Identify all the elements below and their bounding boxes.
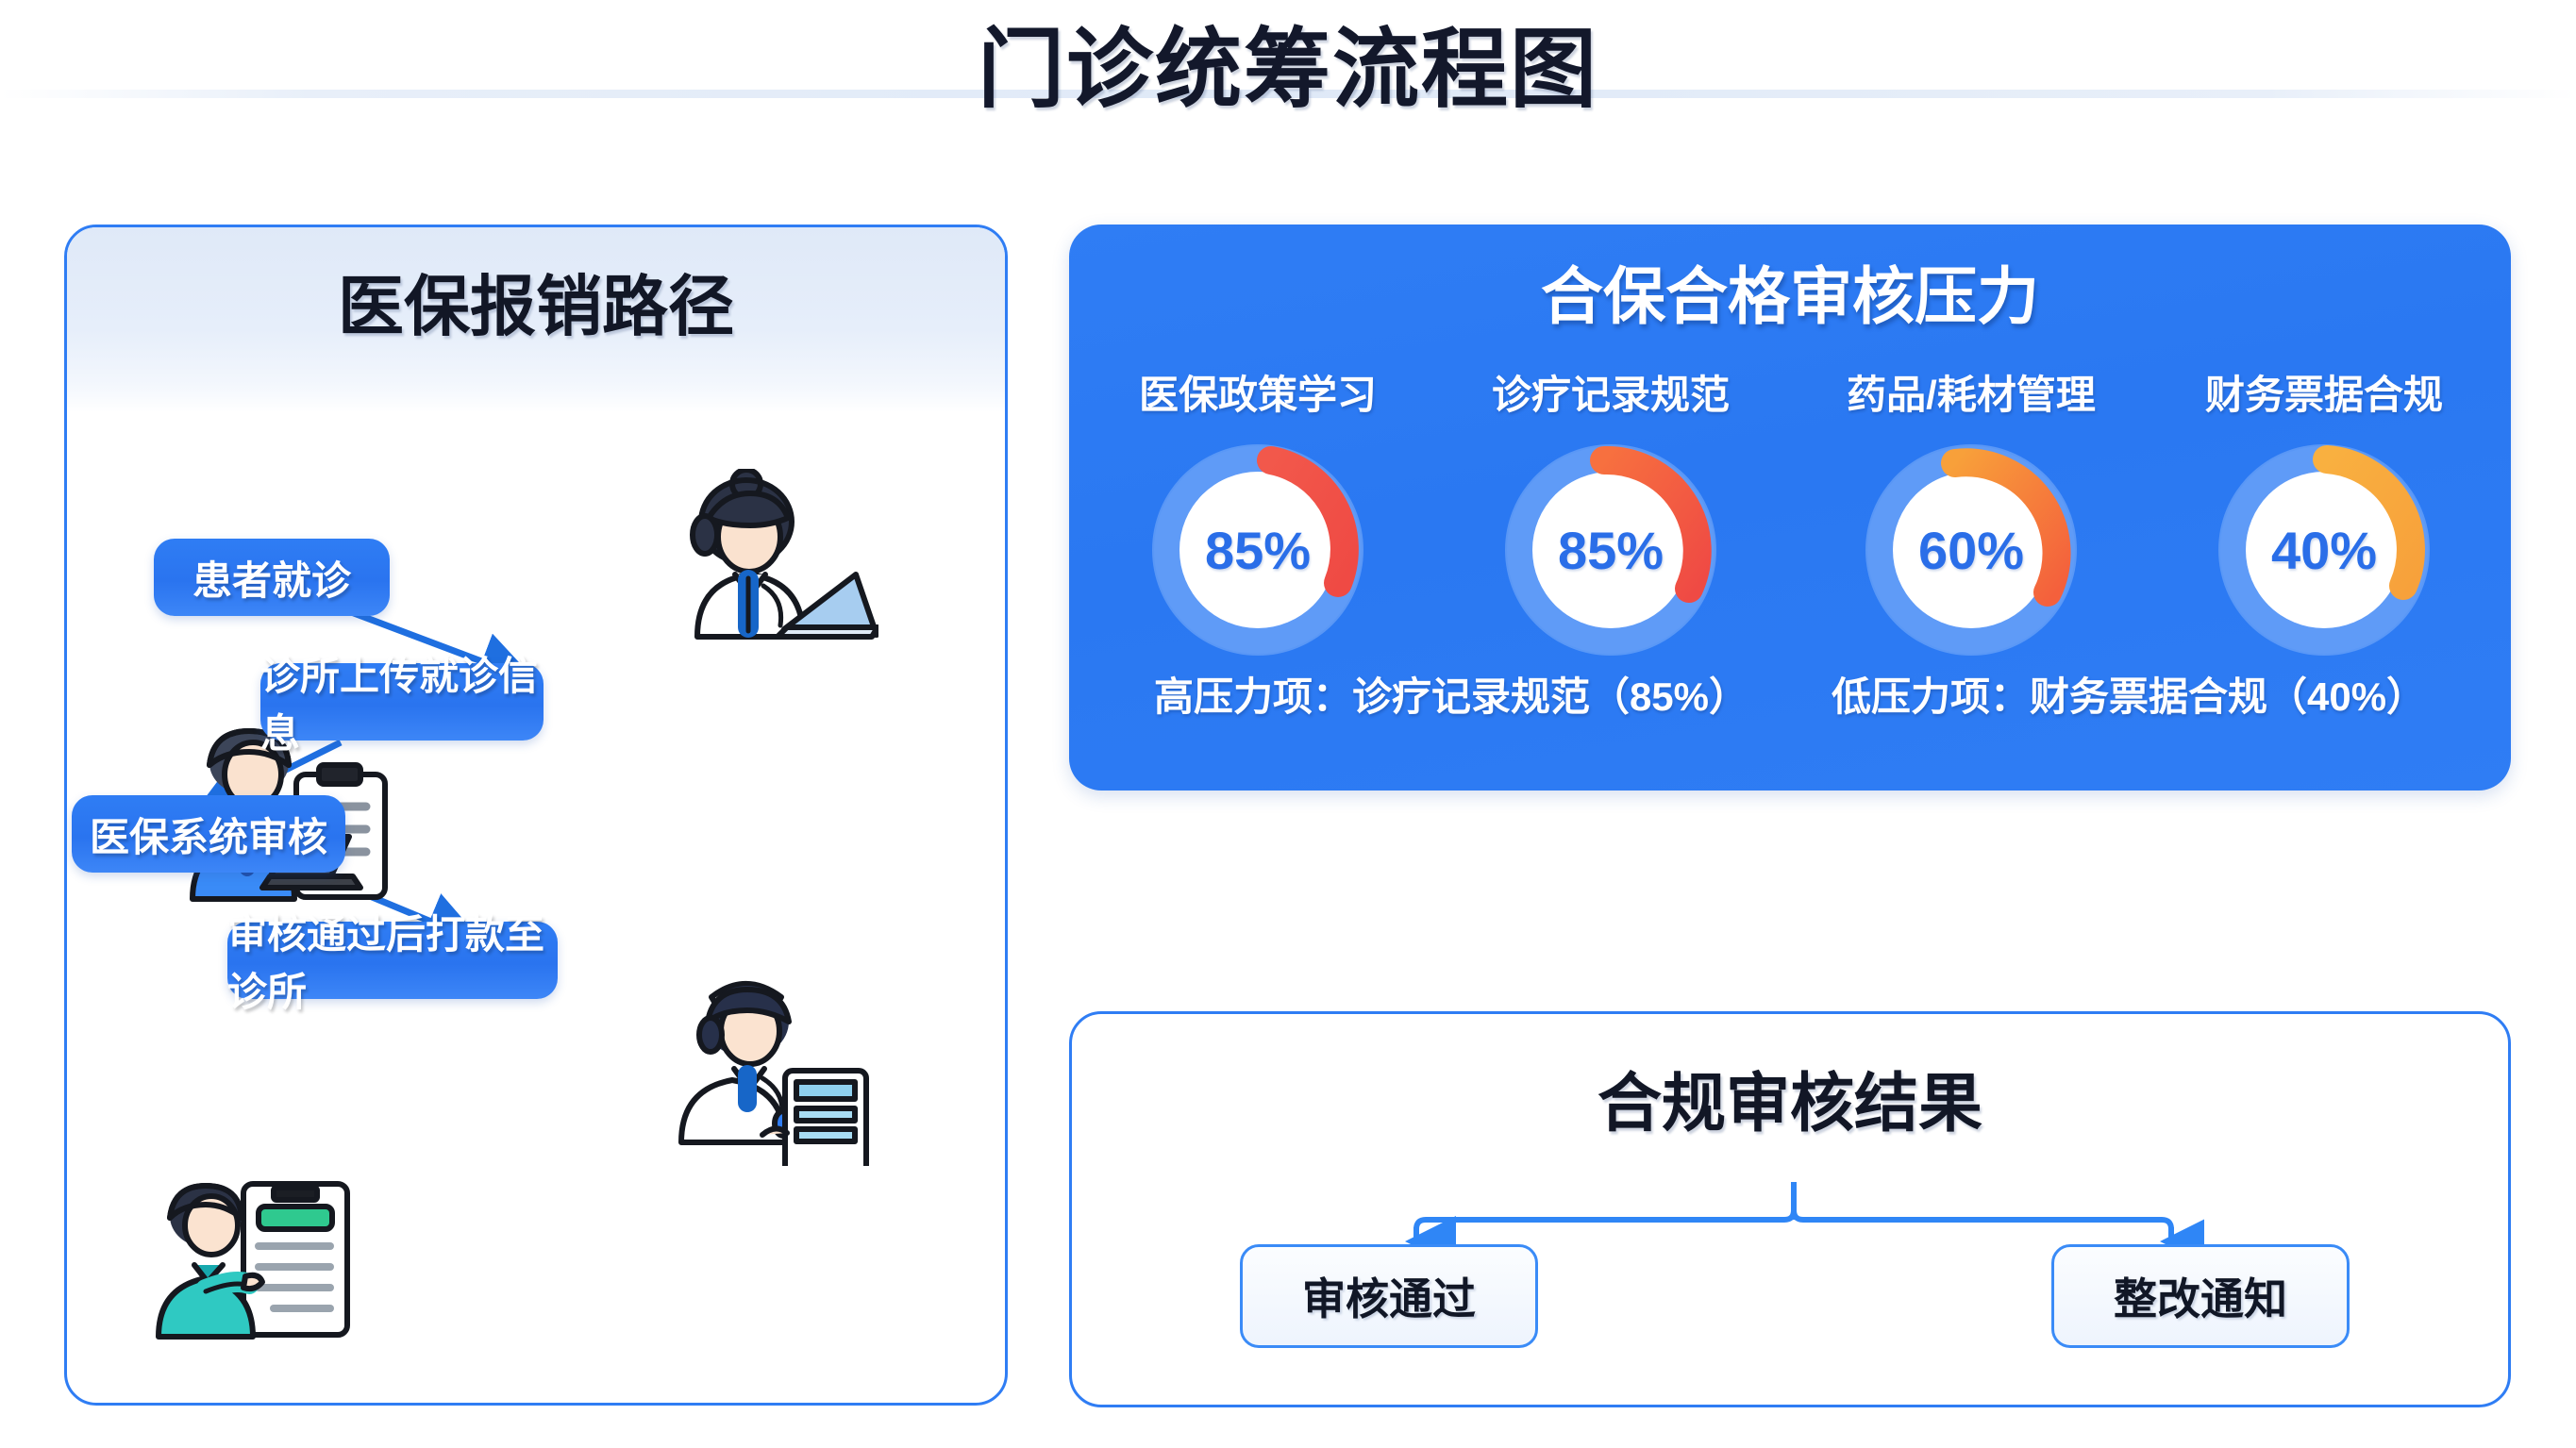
gauge-ring-1: 85% xyxy=(1493,432,1729,668)
gauge-item-0: 医保政策学习 85% xyxy=(1097,366,1418,668)
result-card-title: 合规审核结果 xyxy=(1072,1059,2508,1148)
flow-step-patient-visit[interactable]: 患者就诊 xyxy=(154,539,390,616)
result-outcome-approved[interactable]: 审核通过 xyxy=(1240,1244,1538,1348)
doctor-laptop-illustration xyxy=(643,469,878,657)
low-pressure-note: 低压力项：财务票据合规（40%） xyxy=(1832,668,2426,726)
gauge-value-0: 85% xyxy=(1140,432,1376,668)
flow-step-insurance-review[interactable]: 医保系统审核 xyxy=(72,795,345,873)
gauge-label-1: 诊疗记录规范 xyxy=(1450,366,1771,424)
gauge-item-3: 财务票据合规 40% xyxy=(2164,366,2484,668)
gauge-label-2: 药品/耗材管理 xyxy=(1811,366,2132,424)
gauge-item-2: 药品/耗材管理 60% xyxy=(1811,366,2132,668)
nurse-report-illustration xyxy=(657,973,888,1166)
page-header: 门诊统筹流程图 xyxy=(0,0,2576,170)
page-title: 门诊统筹流程图 xyxy=(0,13,2576,126)
compliance-result-card: 合规审核结果 审核通过 整改通知 xyxy=(1069,1011,2511,1407)
high-pressure-note: 高压力项：诊疗记录规范（85%） xyxy=(1154,668,1748,726)
flow-step-payment-to-clinic[interactable]: 审核通过后打款至诊所 xyxy=(227,922,558,999)
flow-step-clinic-upload[interactable]: 诊所上传就诊信息 xyxy=(260,663,544,741)
gauge-ring-0: 85% xyxy=(1140,432,1376,668)
gauge-value-3: 40% xyxy=(2206,432,2442,668)
medical-insurance-path-card: 医保报销路径 xyxy=(64,225,1008,1406)
gauge-value-1: 85% xyxy=(1493,432,1729,668)
gauge-ring-2: 60% xyxy=(1853,432,2089,668)
gauge-label-0: 医保政策学习 xyxy=(1097,366,1418,424)
gauge-item-1: 诊疗记录规范 85% xyxy=(1450,366,1771,668)
gauge-card-title: 合保合格审核压力 xyxy=(1069,253,2511,340)
result-branch-connector xyxy=(1383,1180,2204,1254)
compliance-pressure-card: 合保合格审核压力 医保政策学习 85% 诊疗记录规范 xyxy=(1069,225,2511,791)
gauge-footer: 高压力项：诊疗记录规范（85%） 低压力项：财务票据合规（40%） xyxy=(1069,668,2511,726)
left-card-title: 医保报销路径 xyxy=(67,261,1005,352)
reviewer-form-illustration xyxy=(147,1171,374,1359)
gauge-label-3: 财务票据合规 xyxy=(2164,366,2484,424)
result-outcome-rectification[interactable]: 整改通知 xyxy=(2051,1244,2350,1348)
gauge-value-2: 60% xyxy=(1853,432,2089,668)
gauge-ring-3: 40% xyxy=(2206,432,2442,668)
